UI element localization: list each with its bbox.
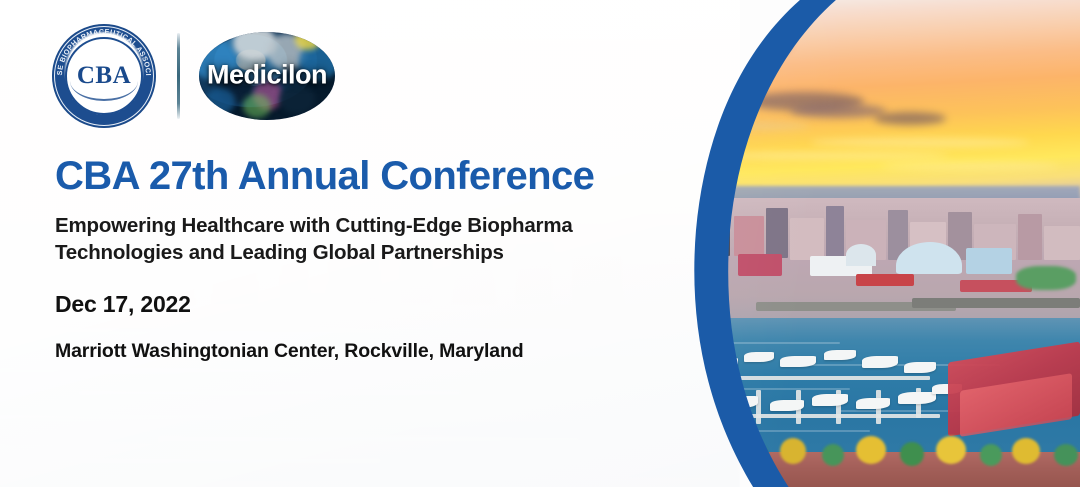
blue-crescent-divider (600, 0, 900, 487)
medicilon-oval-logo: Medicilon (199, 32, 335, 120)
logo-row: CHINESE BIOPHARMACEUTICAL ASSOCIATION 美中… (52, 24, 335, 128)
conference-subtitle: Empowering Healthcare with Cutting-Edge … (55, 212, 685, 266)
subtitle-line-1: Empowering Healthcare with Cutting-Edge … (55, 214, 573, 237)
logo-divider (177, 33, 180, 119)
cba-wordmark: CBA (52, 63, 156, 88)
text-block: CBA 27th Annual Conference Empowering He… (55, 155, 685, 363)
conference-headline: CBA 27th Annual Conference (55, 155, 685, 198)
subtitle-line-2: Technologies and Leading Global Partners… (55, 241, 504, 264)
cba-seal-logo: CHINESE BIOPHARMACEUTICAL ASSOCIATION 美中… (52, 24, 156, 128)
event-date: Dec 17, 2022 (55, 292, 685, 317)
medicilon-wordmark: Medicilon (199, 61, 335, 88)
event-venue: Marriott Washingtonian Center, Rockville… (55, 340, 685, 363)
conference-banner: CHINESE BIOPHARMACEUTICAL ASSOCIATION 美中… (0, 0, 1080, 487)
